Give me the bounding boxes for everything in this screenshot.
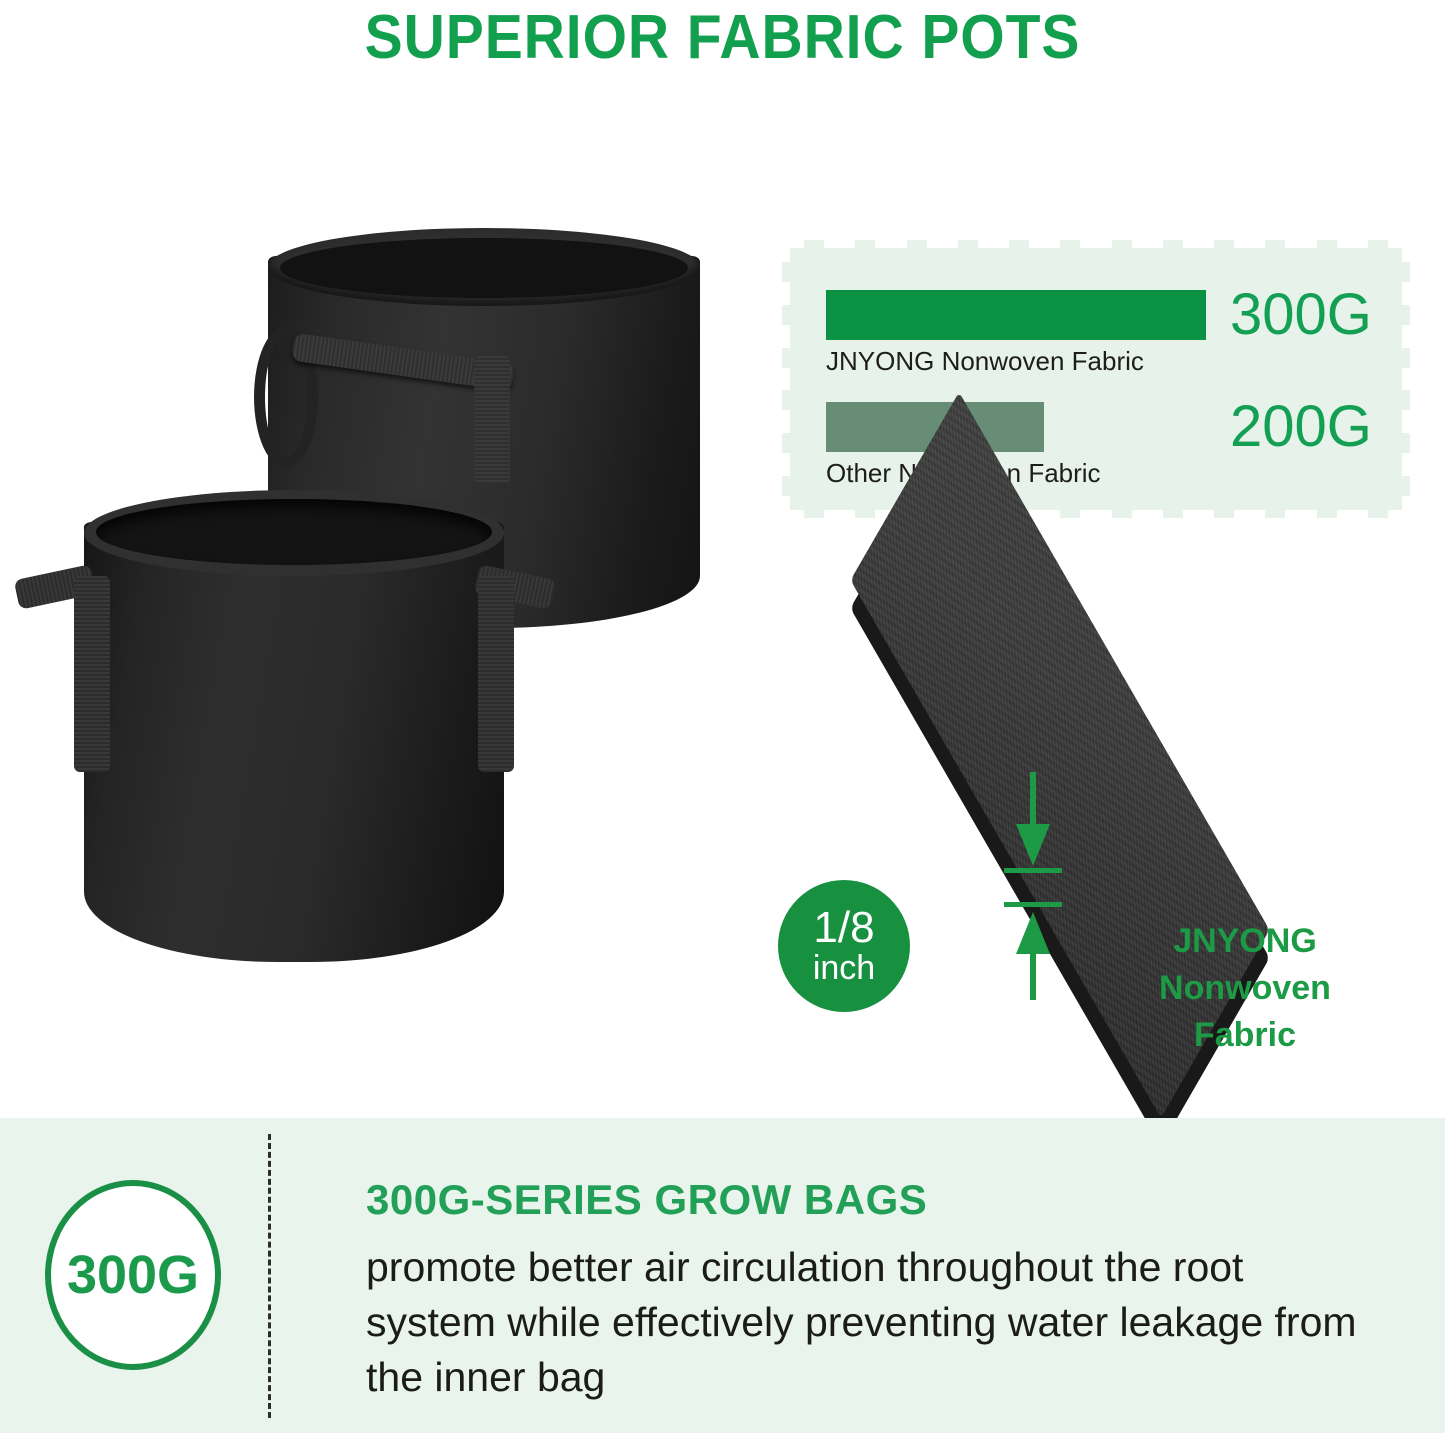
bag-body: [84, 522, 504, 962]
bag-handle-right: [478, 576, 514, 772]
stamp-edge-top: [790, 240, 1402, 249]
thickness-badge: 1/8 inch: [778, 880, 910, 1012]
feature-divider: [268, 1134, 271, 1418]
bag-handle-left: [74, 576, 110, 772]
bar-jnyong: [826, 290, 1206, 340]
comparison-row-jnyong: 300G: [826, 286, 1372, 344]
comparison-row-other: 200G: [826, 398, 1372, 456]
thickness-tick-bottom: [1004, 902, 1062, 907]
fabric-label-line-3: Fabric: [1100, 1012, 1390, 1059]
thickness-badge-unit: inch: [813, 951, 875, 986]
fabric-label-line-2: Nonwoven: [1100, 965, 1390, 1012]
feature-badge: 300G: [45, 1180, 221, 1370]
bar-value-jnyong: 300G: [1230, 286, 1372, 344]
feature-heading: 300G-SERIES GROW BAGS: [366, 1176, 1376, 1224]
bar-caption-jnyong: JNYONG Nonwoven Fabric: [826, 346, 1144, 377]
grow-bag-front: [60, 490, 530, 980]
thickness-tick-top: [1004, 868, 1062, 873]
page-title: SUPERIOR FABRIC POTS: [58, 2, 1387, 73]
feature-body: promote better air circulation throughou…: [366, 1240, 1376, 1405]
weight-comparison-panel: 300G JNYONG Nonwoven Fabric 200G Other N…: [790, 248, 1402, 510]
feature-band: 300G 300G-SERIES GROW BAGS promote bette…: [0, 1118, 1445, 1433]
bag-handle-tail: [474, 356, 510, 484]
stamp-edge-left: [782, 248, 791, 510]
infographic-page: SUPERIOR FABRIC POTS: [0, 0, 1445, 1433]
product-photo-group: [0, 200, 740, 1020]
fabric-label: JNYONG Nonwoven Fabric: [1100, 918, 1390, 1059]
fabric-thickness-diagram: 1/8 inch JNYONG Nonwoven Fabric: [700, 630, 1445, 1100]
bag-opening: [280, 238, 688, 298]
thickness-badge-value: 1/8: [813, 906, 874, 951]
stamp-edge-bottom: [790, 509, 1402, 518]
bag-opening: [96, 499, 492, 565]
bar-value-other: 200G: [1230, 398, 1372, 456]
feature-text-block: 300G-SERIES GROW BAGS promote better air…: [366, 1176, 1376, 1405]
fabric-label-line-1: JNYONG: [1100, 918, 1390, 965]
stamp-edge-right: [1401, 248, 1410, 510]
